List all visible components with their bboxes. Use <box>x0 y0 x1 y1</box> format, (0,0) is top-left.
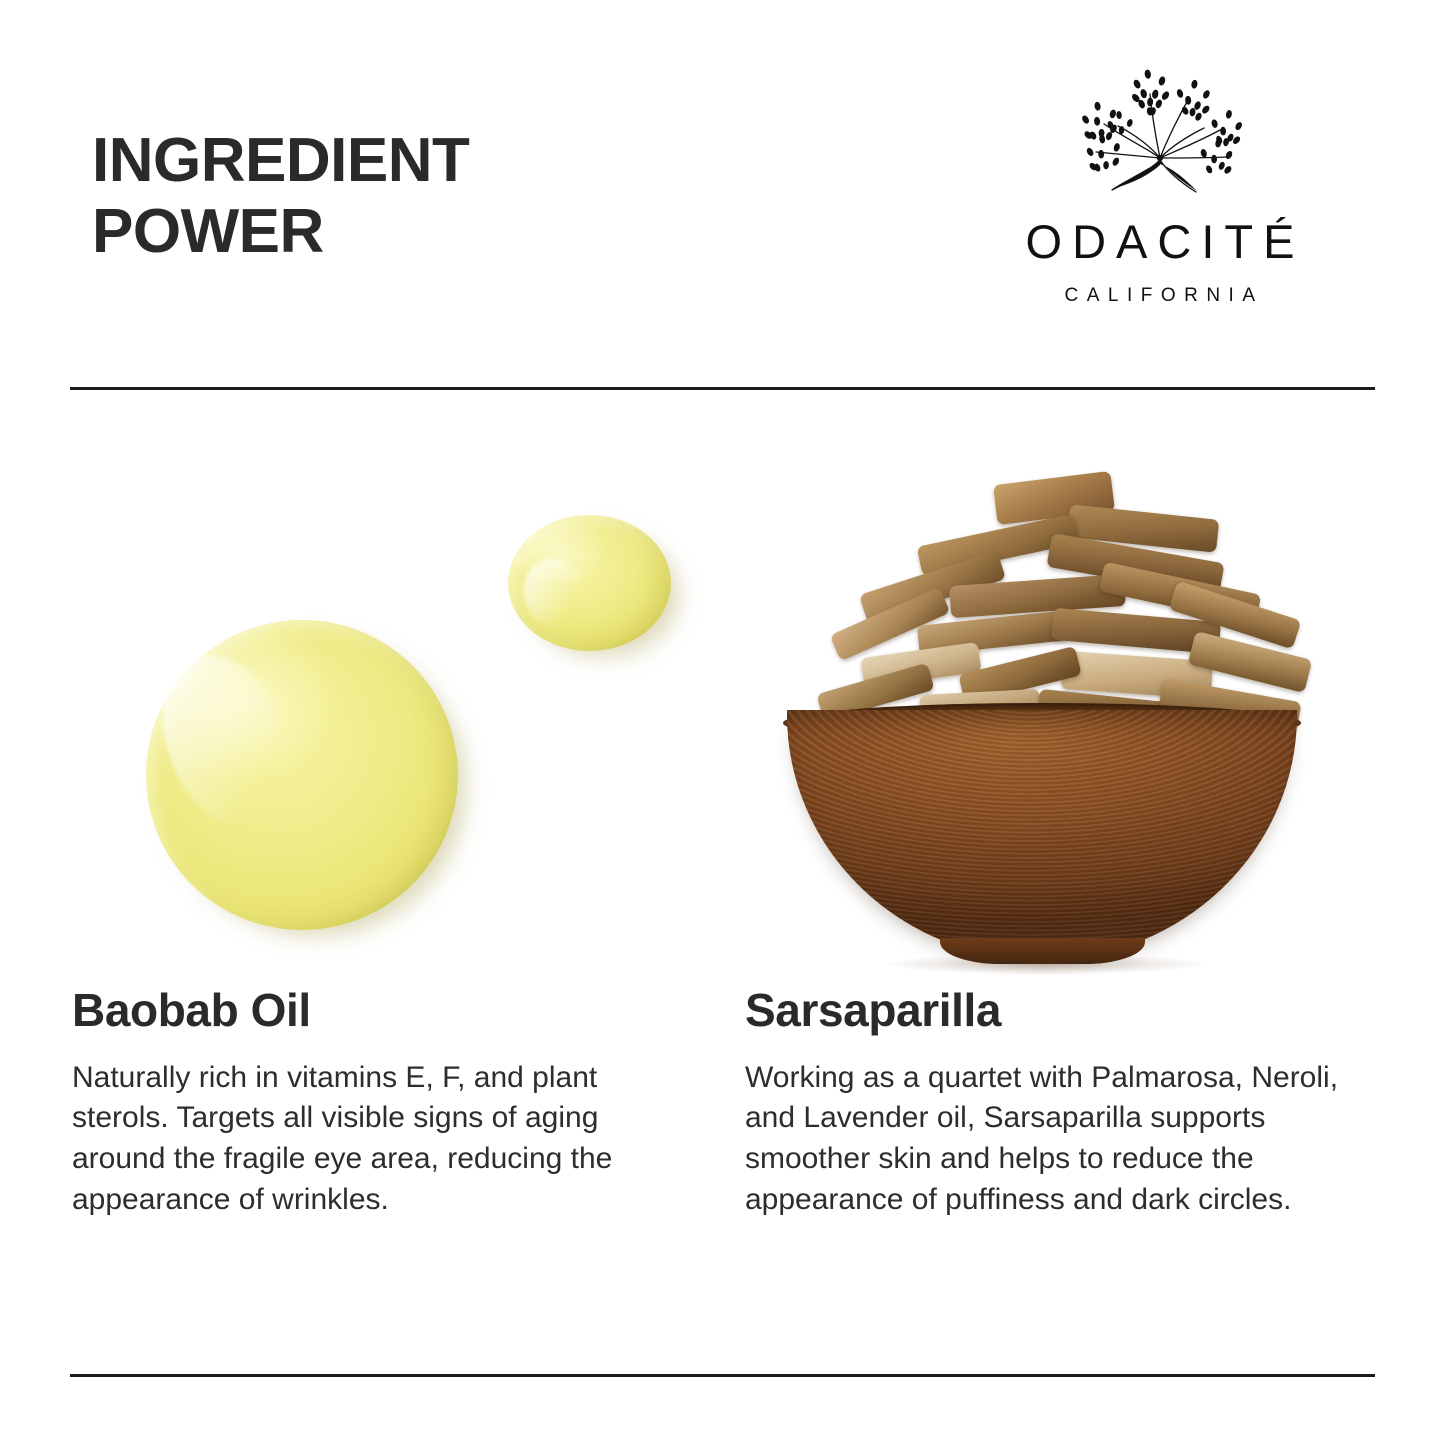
brand-name: ODACITÉ <box>955 218 1365 265</box>
oil-droplet-large <box>146 620 458 930</box>
brand-logo: ODACITÉ CALIFORNIA <box>955 50 1365 307</box>
bowl-body <box>787 710 1297 960</box>
sarsaparilla-roots-bowl-photo <box>745 430 1385 975</box>
header: INGREDIENT POWER <box>0 0 1445 388</box>
ingredient-card-baobab-oil: Baobab Oil Naturally rich in vitamins E,… <box>72 430 712 1360</box>
bowl-shadow <box>885 954 1205 974</box>
infographic-page: INGREDIENT POWER <box>0 0 1445 1445</box>
ingredient-description: Working as a quartet with Palmarosa, Ner… <box>745 1058 1385 1221</box>
divider-top <box>70 387 1375 390</box>
wooden-bowl-with-roots <box>765 460 1365 960</box>
ingredient-description: Naturally rich in vitamins E, F, and pla… <box>72 1058 647 1221</box>
oil-droplet-small <box>508 515 671 651</box>
ingredient-name: Sarsaparilla <box>745 985 1385 1036</box>
divider-bottom <box>70 1374 1375 1377</box>
page-title: INGREDIENT POWER <box>92 126 732 267</box>
ingredient-card-sarsaparilla: Sarsaparilla Working as a quartet with P… <box>745 430 1385 1360</box>
umbel-botanical-icon <box>1060 50 1260 200</box>
brand-tagline: CALIFORNIA <box>955 285 1365 307</box>
ingredient-columns: Baobab Oil Naturally rich in vitamins E,… <box>0 430 1445 1360</box>
ingredient-name: Baobab Oil <box>72 985 712 1036</box>
bowl-wood-grain <box>787 710 1297 960</box>
baobab-oil-droplets-photo <box>72 430 712 975</box>
